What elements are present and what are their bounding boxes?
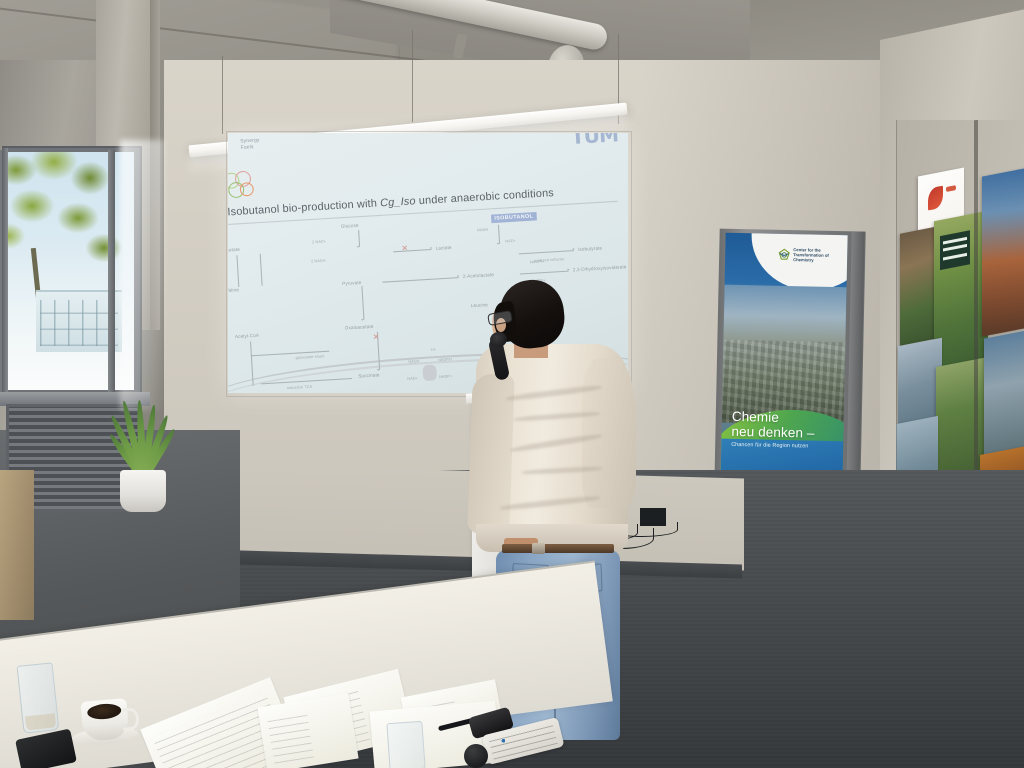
annotation-oxidized-cofactor: oxidized cofactor (534, 257, 565, 263)
banner-headline-line2: neu denken – (731, 424, 837, 441)
lamp-suspension-wire (222, 56, 223, 134)
node-glucose: Glucose (341, 223, 359, 229)
belt-buckle (532, 543, 545, 554)
water-glass (386, 721, 425, 768)
node-isobutyrate: Isobutyrate (578, 245, 602, 252)
presentation-room-photo: TUM Synergy Fuels Isobutanol bio-product… (0, 0, 1024, 768)
node-lactate: Lactate (435, 245, 451, 251)
daylight-glare (120, 140, 164, 410)
cofactor-nadh: 2 NADH (311, 258, 326, 263)
node-valine: Valine (228, 287, 239, 293)
poster-item (900, 226, 938, 345)
drinking-glass (17, 662, 60, 733)
blocked-reaction-x: ✕ (401, 245, 408, 253)
poster-logo-mark (928, 186, 943, 211)
cofactor-nadh-2: NADH (477, 228, 488, 233)
annotation-glyoxylate-shunt: glyoxylate shunt (295, 354, 324, 360)
node-oxaloacetate: Oxaloacetate (345, 324, 374, 331)
poster-logo-text (946, 185, 956, 192)
ctc-triangle-globe-icon (777, 248, 791, 262)
poster-item (934, 211, 988, 371)
proton-label: H+ (431, 347, 436, 352)
presenter-belt (502, 544, 614, 553)
synergy-fuels-label-line2: Fuels (240, 144, 253, 151)
membrane-transporter-icon (422, 364, 437, 381)
tum-logo: TUM (570, 133, 618, 149)
slide-title-suffix: under anaerobic conditions (415, 188, 554, 208)
node-acetate: Acetate (228, 247, 240, 253)
window-sash-right (108, 150, 115, 392)
remote-end-cap (464, 744, 488, 768)
banner-org-name: Center for the Transformation of Chemist… (793, 247, 829, 263)
synergy-fuels-circles-icon (228, 168, 282, 203)
snake-plant-leaves (112, 392, 174, 480)
cofactor-nad-2: NAD+ (505, 239, 516, 244)
cofactor-nad: 2 NAD+ (312, 239, 326, 244)
poster-item (982, 167, 1024, 336)
slide-title-strain: Cg_Iso (380, 196, 416, 210)
banner-headline: Chemie neu denken – (731, 409, 838, 441)
poster-caption-block (940, 230, 970, 270)
node-pyruvate: Pyruvate (342, 280, 362, 286)
coffee-liquid (87, 703, 122, 721)
node-acetyl-coa: Acetyl-CoA (235, 333, 260, 340)
window-sash-left (2, 148, 8, 394)
lamp-suspension-wire (412, 30, 413, 122)
banner-aerial-photo (722, 285, 847, 426)
handwritten-notes (257, 693, 358, 768)
poster-item (984, 329, 1024, 462)
banner-org-line3: Chemistry (793, 257, 829, 263)
plant-pot (120, 470, 166, 512)
blocked-reaction-x-2: ✕ (373, 334, 380, 342)
door-edge (0, 470, 34, 620)
isobutanol-highlight-badge: ISOBUTANOL (491, 212, 537, 224)
presenter-right-shoulder (582, 358, 636, 508)
